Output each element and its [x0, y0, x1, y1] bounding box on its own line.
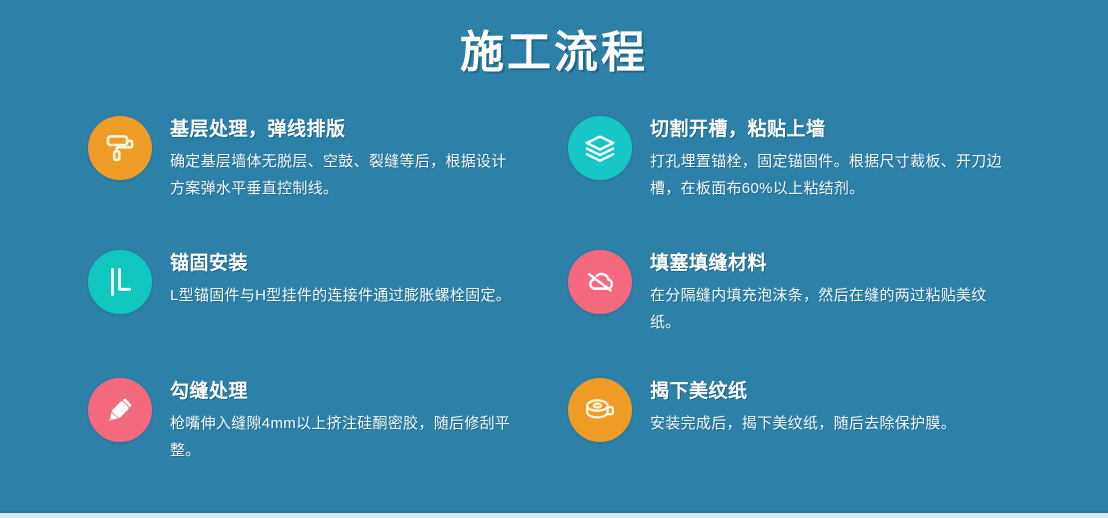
process-steps-grid: 基层处理，弹线排版 确定基层墙体无脱层、空鼓、裂缝等后，根据设计方案弹水平垂直控… [0, 110, 1108, 500]
step-2-icon-badge [568, 116, 632, 180]
step-6-text: 揭下美纹纸 安装完成后，揭下美纹纸，随后去除保护膜。 [650, 378, 1018, 437]
step-4-body: 在分隔缝内填充泡沫条，然后在缝的两过粘贴美纹纸。 [650, 282, 1010, 336]
step-1-text: 基层处理，弹线排版 确定基层墙体无脱层、空鼓、裂缝等后，根据设计方案弹水平垂直控… [170, 116, 538, 202]
step-3-text: 锚固安装 L型锚固件与H型挂件的连接件通过膨胀螺栓固定。 [170, 250, 538, 309]
bottom-strip [0, 513, 1108, 518]
layers-stack-icon [582, 130, 618, 166]
step-6-body: 安装完成后，揭下美纹纸，随后去除保护膜。 [650, 410, 1010, 437]
paint-roller-icon [102, 130, 138, 166]
process-step-1: 基层处理，弹线排版 确定基层墙体无脱层、空鼓、裂缝等后，根据设计方案弹水平垂直控… [88, 116, 538, 202]
step-3-body: L型锚固件与H型挂件的连接件通过膨胀螺栓固定。 [170, 282, 520, 309]
step-5-text: 勾缝处理 枪嘴伸入缝隙4mm以上挤注硅酮密胶，随后修刮平整。 [170, 378, 538, 464]
step-6-icon-badge [568, 378, 632, 442]
step-2-body: 打孔埋置锚栓，固定锚固件。根据尺寸裁板、开刀边槽，在板面布60%以上粘结剂。 [650, 148, 1010, 202]
step-5-icon-badge [88, 378, 152, 442]
step-6-title: 揭下美纹纸 [650, 380, 1018, 404]
process-step-2: 切割开槽，粘贴上墙 打孔埋置锚栓，固定锚固件。根据尺寸裁板、开刀边槽，在板面布6… [568, 116, 1018, 202]
step-4-title: 填塞填缝材料 [650, 252, 1018, 276]
step-1-title: 基层处理，弹线排版 [170, 118, 538, 142]
step-4-text: 填塞填缝材料 在分隔缝内填充泡沫条，然后在缝的两过粘贴美纹纸。 [650, 250, 1018, 336]
step-4-icon-badge [568, 250, 632, 314]
l-bracket-icon [102, 264, 138, 300]
page-title: 施工流程 [0, 26, 1108, 80]
caulk-gun-icon [102, 392, 138, 428]
process-step-6: 揭下美纹纸 安装完成后，揭下美纹纸，随后去除保护膜。 [568, 378, 1018, 442]
step-1-icon-badge [88, 116, 152, 180]
step-5-body: 枪嘴伸入缝隙4mm以上挤注硅酮密胶，随后修刮平整。 [170, 410, 520, 464]
step-5-title: 勾缝处理 [170, 380, 538, 404]
step-3-title: 锚固安装 [170, 252, 538, 276]
process-step-3: 锚固安装 L型锚固件与H型挂件的连接件通过膨胀螺栓固定。 [88, 250, 538, 314]
step-2-title: 切割开槽，粘贴上墙 [650, 118, 1018, 142]
cloud-off-icon [582, 264, 618, 300]
tape-roll-icon [581, 391, 619, 429]
construction-process-poster: 施工流程 基层处理，弹线排版 确定基层墙体无脱层、空鼓、裂缝等后，根据设计方案弹… [0, 0, 1108, 518]
step-3-icon-badge [88, 250, 152, 314]
process-step-5: 勾缝处理 枪嘴伸入缝隙4mm以上挤注硅酮密胶，随后修刮平整。 [88, 378, 538, 464]
step-1-body: 确定基层墙体无脱层、空鼓、裂缝等后，根据设计方案弹水平垂直控制线。 [170, 148, 520, 202]
step-2-text: 切割开槽，粘贴上墙 打孔埋置锚栓，固定锚固件。根据尺寸裁板、开刀边槽，在板面布6… [650, 116, 1018, 202]
process-step-4: 填塞填缝材料 在分隔缝内填充泡沫条，然后在缝的两过粘贴美纹纸。 [568, 250, 1018, 336]
